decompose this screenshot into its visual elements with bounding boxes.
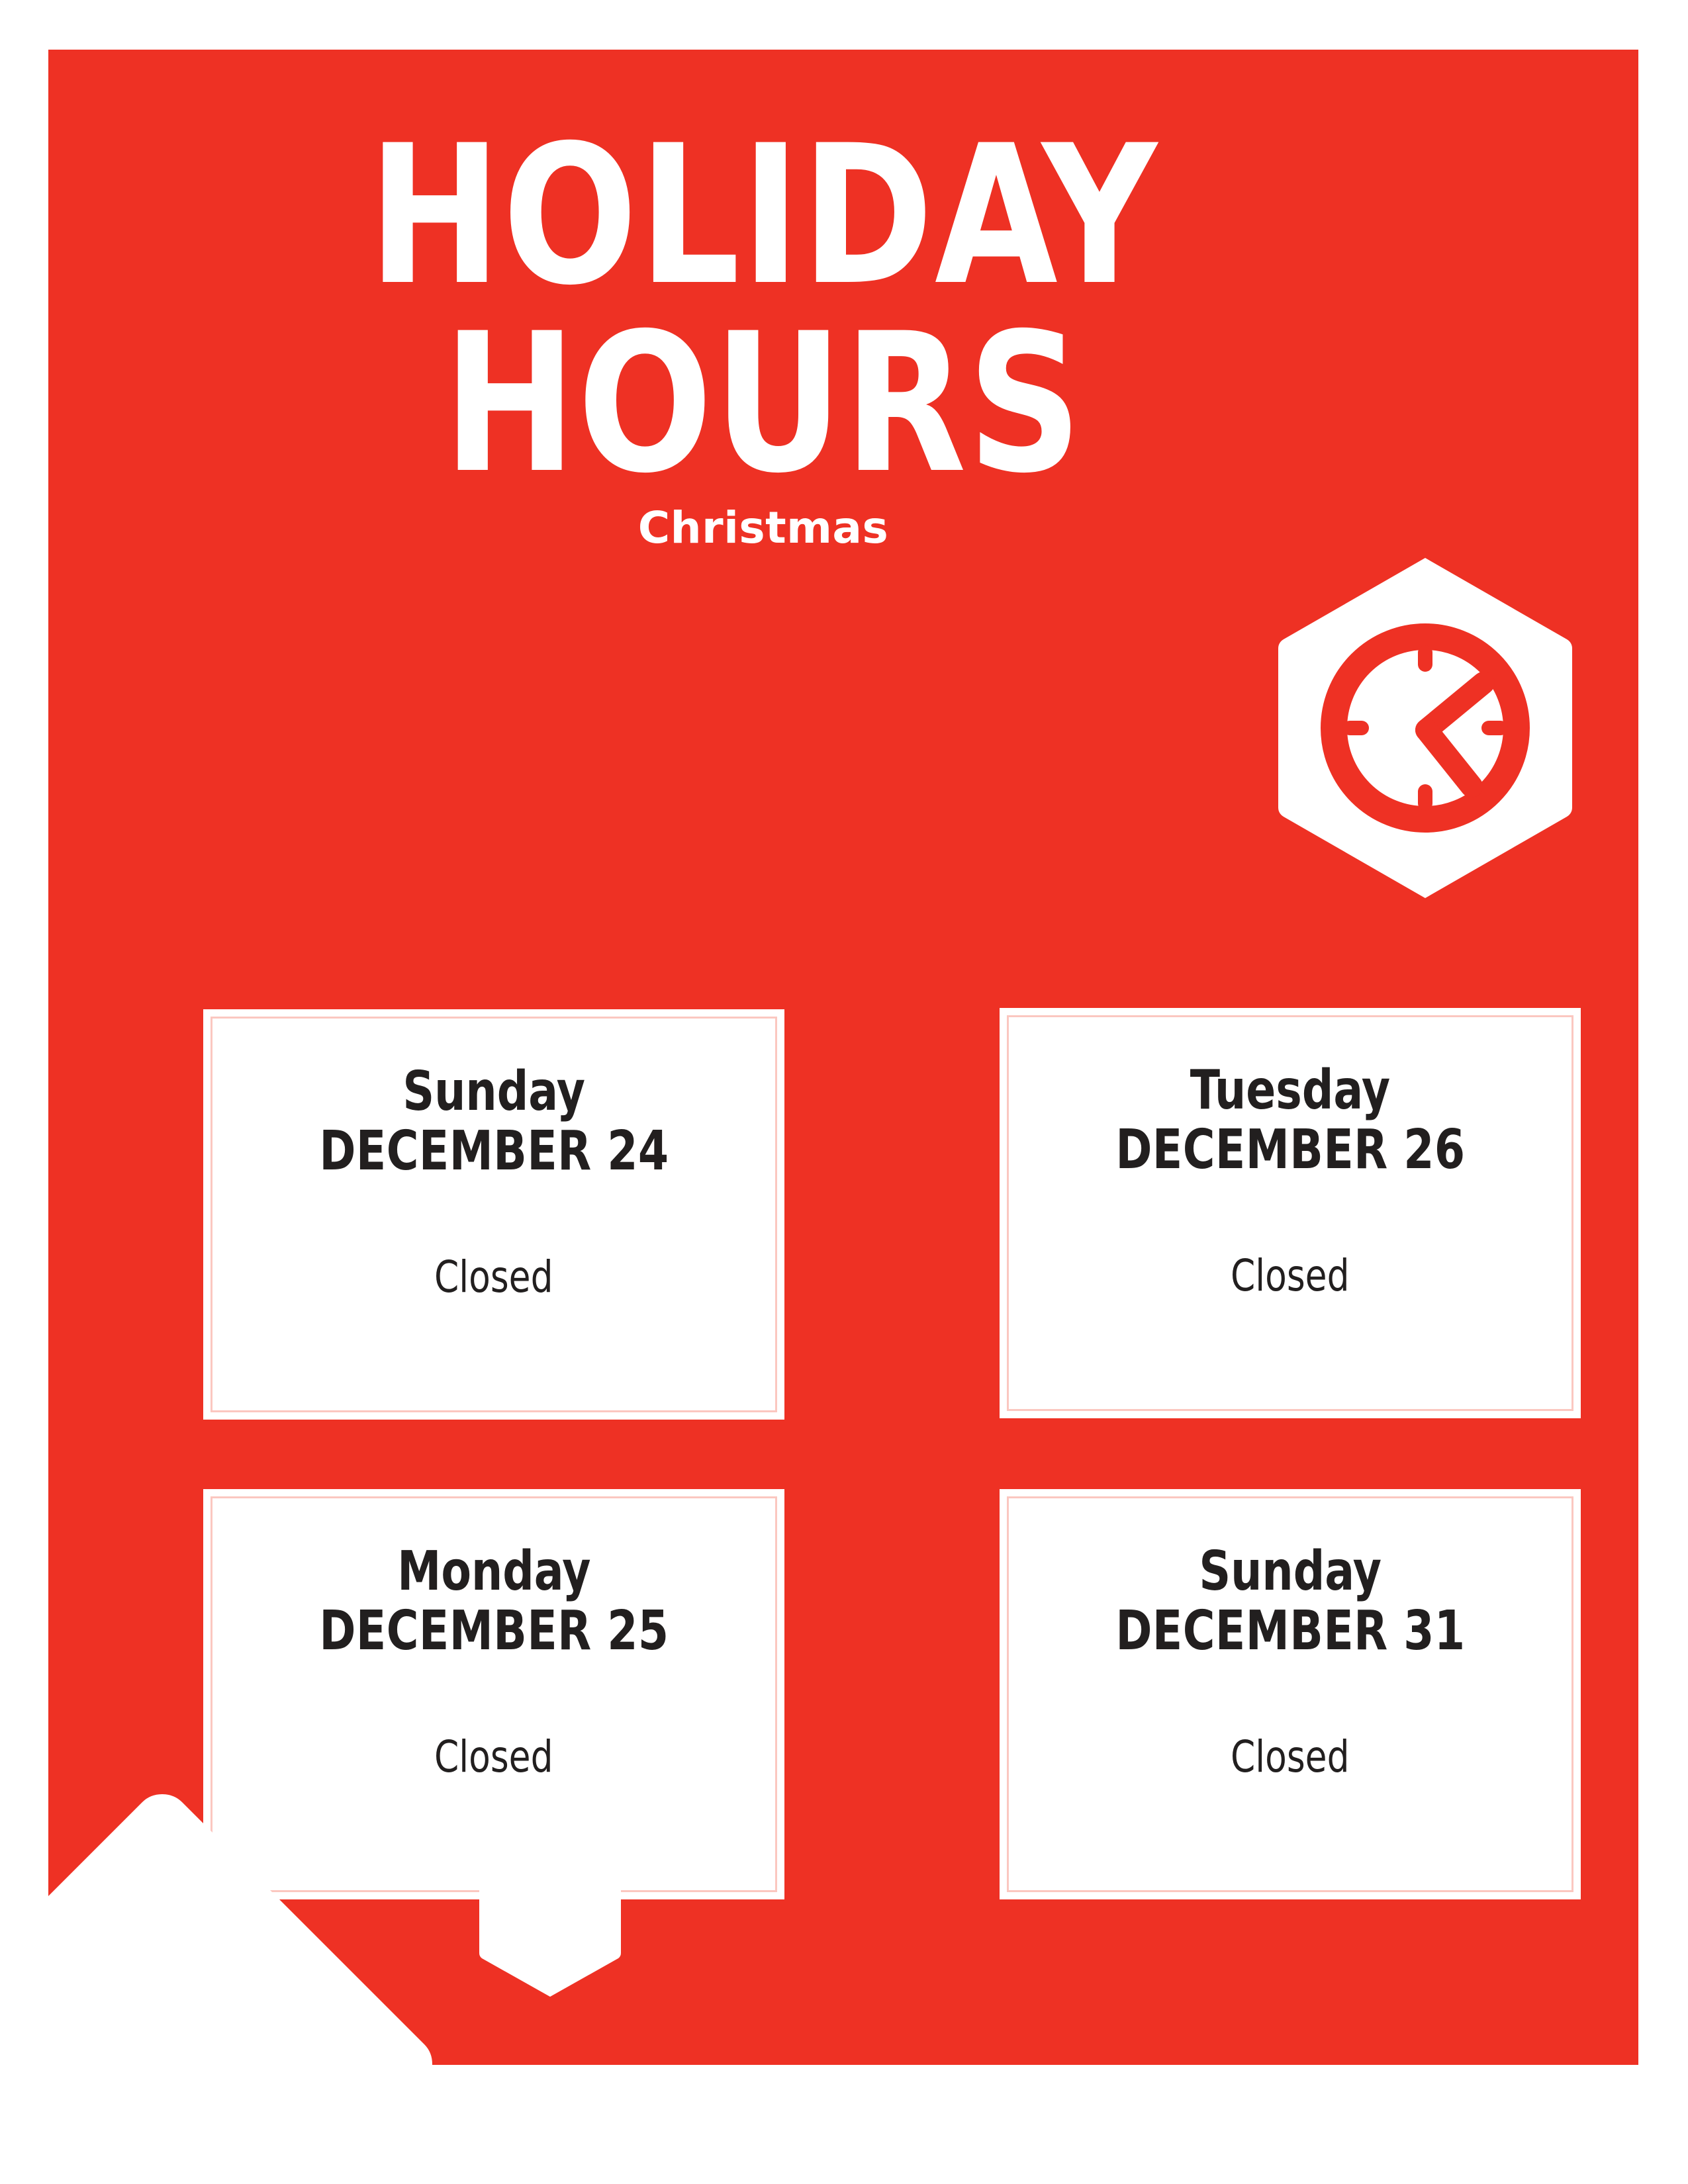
page-title: HOLIDAY HOURS [267, 122, 1260, 498]
card-status-label: Closed [434, 1735, 553, 1779]
poster-panel: HOLIDAY HOURS Christmas Sunday DECE [48, 50, 1638, 2065]
hexagon-decoration-large [48, 1785, 447, 2065]
hours-card: Sunday DECEMBER 24 Closed [203, 1009, 784, 1420]
card-day-label: Sunday [1199, 1543, 1382, 1600]
hexagon-decoration-small [477, 1829, 624, 1999]
card-day-label: Sunday [402, 1064, 585, 1120]
card-content: Sunday DECEMBER 24 Closed [203, 1009, 784, 1420]
card-date-label: DECEMBER 31 [1115, 1600, 1465, 1664]
card-date-label: DECEMBER 24 [319, 1120, 669, 1184]
card-status-label: Closed [1231, 1254, 1350, 1298]
title-line-2: HOURS [306, 310, 1220, 498]
card-content: Sunday DECEMBER 31 Closed [1000, 1489, 1581, 1899]
card-day-label: Tuesday [1190, 1062, 1390, 1118]
card-date-label: DECEMBER 25 [319, 1600, 669, 1664]
hours-card-grid: Sunday DECEMBER 24 Closed Tuesday DECEMB… [155, 958, 1532, 1898]
hours-card: Tuesday DECEMBER 26 Closed [1000, 1008, 1581, 1418]
poster-subtitle: Christmas [267, 506, 1260, 550]
clock-icon [1273, 553, 1577, 903]
card-date-label: DECEMBER 26 [1115, 1118, 1465, 1183]
card-status-label: Closed [434, 1255, 553, 1299]
card-day-label: Monday [397, 1543, 590, 1600]
hours-card: Sunday DECEMBER 31 Closed [1000, 1489, 1581, 1899]
card-status-label: Closed [1231, 1735, 1350, 1779]
card-content: Tuesday DECEMBER 26 Closed [1000, 1008, 1581, 1418]
title-line-1: HOLIDAY [306, 122, 1220, 310]
